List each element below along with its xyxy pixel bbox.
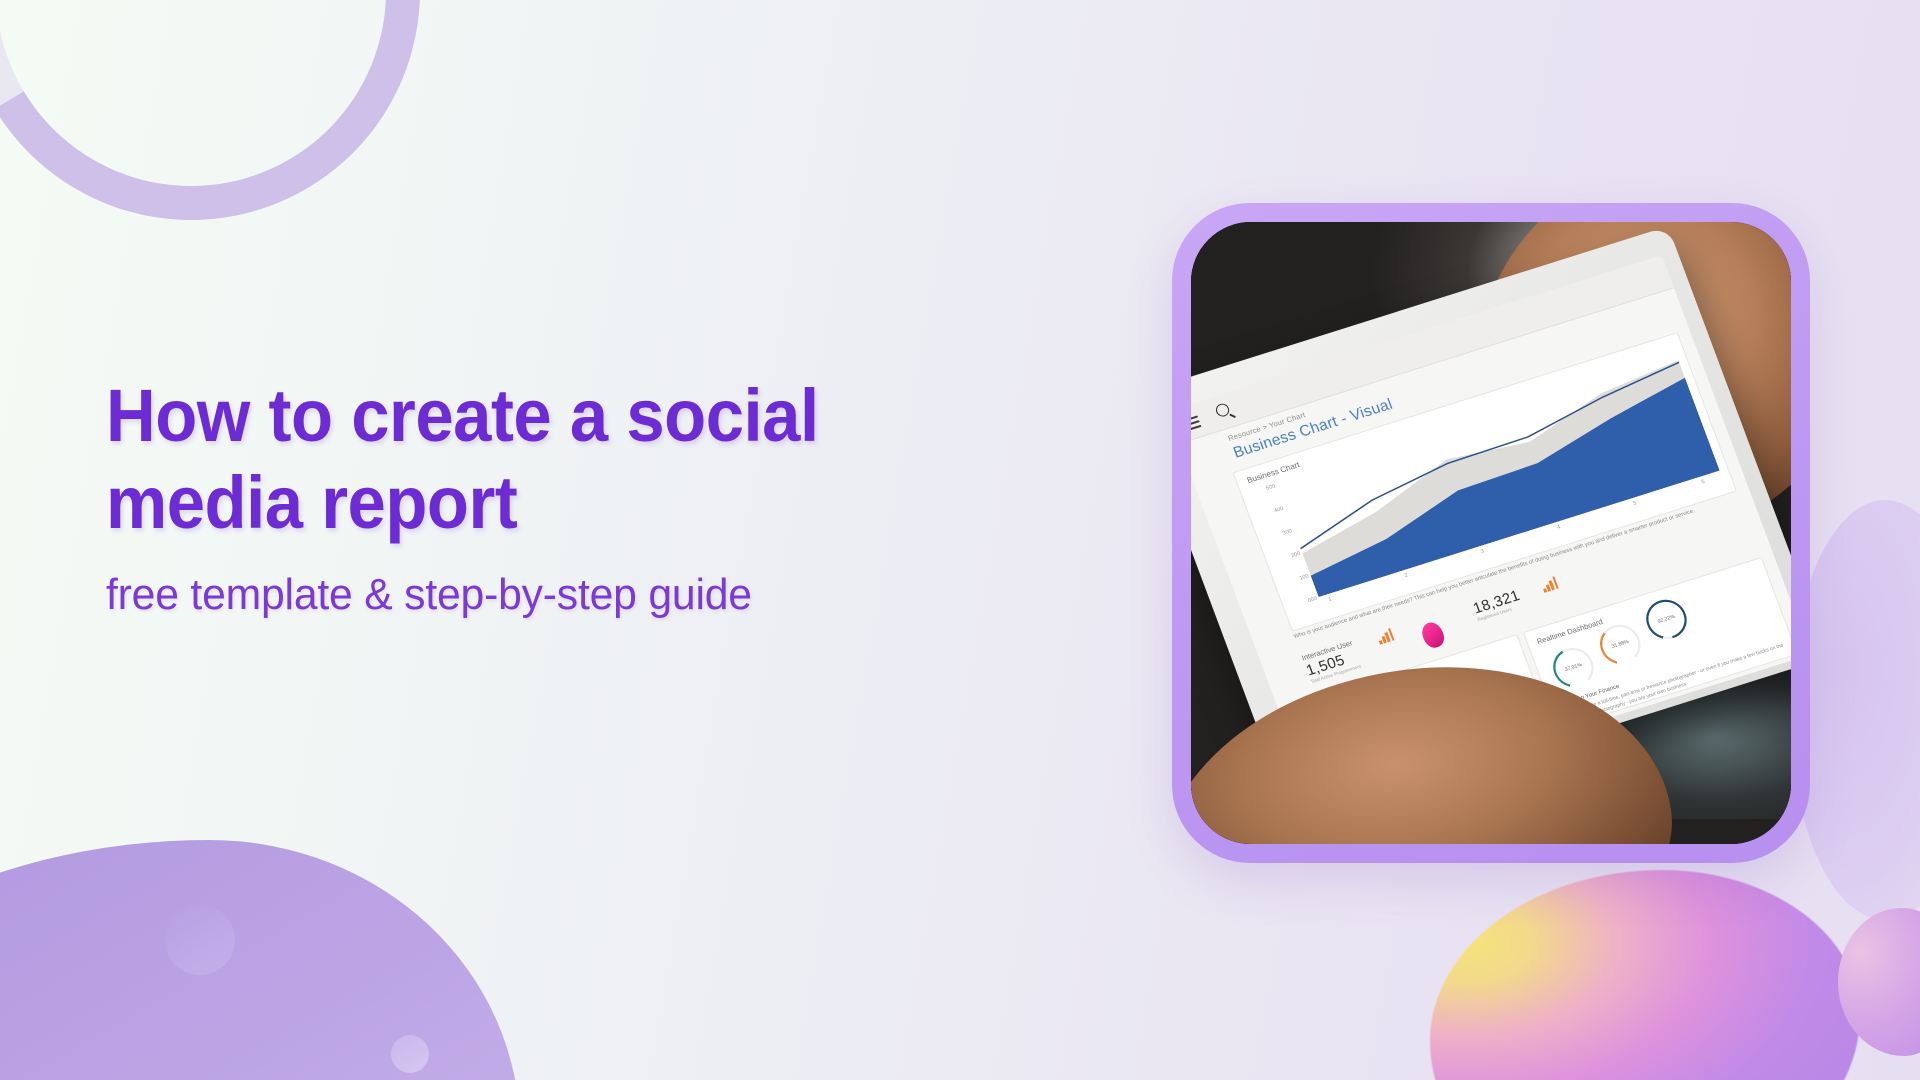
bar-chart-icon xyxy=(1540,576,1559,593)
bar-chart-icon xyxy=(1376,628,1395,645)
x-tick: 2 xyxy=(1404,572,1409,579)
x-tick: 1 xyxy=(1328,596,1333,603)
x-tick: 4 xyxy=(1556,524,1561,531)
hero-photo: Resource > Your Chart Business Chart - V… xyxy=(1191,222,1791,844)
gauge-1-value: 37.91% xyxy=(1547,643,1599,693)
gradient-blob-bottom-right xyxy=(1430,870,1860,1080)
gradient-blob-right-edge xyxy=(1838,908,1920,1056)
ring-arc-shape xyxy=(0,0,469,269)
page-title: How to create a social media report xyxy=(106,372,850,547)
hamburger-icon[interactable] xyxy=(1191,415,1203,434)
kpi-interactive-user: Interactive User 1,505 Total Active Prog… xyxy=(1300,638,1361,684)
kpi-registered-users: 18,321 Registered Users xyxy=(1470,586,1524,622)
headline-line-2: media report xyxy=(106,459,850,546)
headline-line-1: How to create a social xyxy=(106,372,850,459)
gauge-3-value: 92.22% xyxy=(1640,595,1692,645)
y-tick: 000 xyxy=(1307,596,1318,604)
gauge-2-value: 31.88% xyxy=(1594,620,1646,670)
y-tick: 500 xyxy=(1265,483,1276,491)
y-tick: 100 xyxy=(1299,573,1310,581)
hero-copy: How to create a social media report free… xyxy=(106,372,906,621)
hero-image-card: Resource > Your Chart Business Chart - V… xyxy=(1172,203,1810,863)
y-tick: 300 xyxy=(1282,528,1293,536)
decorative-circle-small xyxy=(391,1035,429,1073)
decorative-circle-large xyxy=(165,905,235,975)
purple-blob-bottom-left xyxy=(0,840,520,1080)
x-tick: 5 xyxy=(1633,500,1638,507)
search-icon[interactable] xyxy=(1214,402,1231,418)
page-subtitle: free template & step-by-step guide xyxy=(106,569,882,622)
y-tick: 200 xyxy=(1290,551,1301,559)
x-tick: 3 xyxy=(1480,548,1485,555)
x-tick: 6 xyxy=(1701,479,1706,486)
y-tick: 400 xyxy=(1274,506,1285,514)
